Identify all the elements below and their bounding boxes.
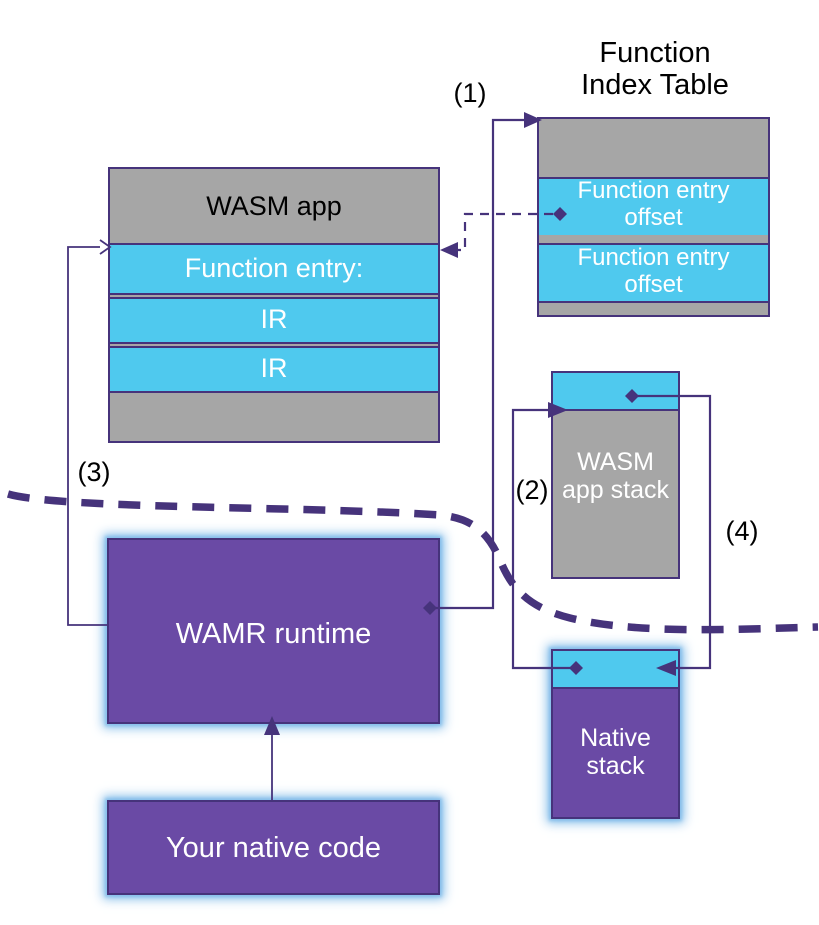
- diamond-wasm-app-stack-top: [625, 389, 639, 403]
- diamond-runtime-right: [423, 601, 437, 615]
- arrowhead-to-function-entry: [440, 242, 458, 258]
- arrowhead-to-wasm-app-stack: [548, 402, 568, 418]
- connector-layer: [0, 0, 819, 925]
- connector-4-wasm-app-stack-to-native-stack: [625, 389, 710, 676]
- connector-native-code-to-runtime: [264, 716, 280, 800]
- diagram-canvas: Function Index Table WASM app Function e…: [0, 0, 819, 925]
- arrowhead-to-runtime: [264, 716, 280, 735]
- diamond-native-stack-left: [569, 661, 583, 675]
- native-boundary-line: [8, 494, 818, 630]
- diamond-function-entry-offset: [553, 207, 567, 221]
- connector-2-native-stack-to-wasm-app-stack: [513, 402, 583, 675]
- arrowhead-to-native-stack: [656, 660, 676, 676]
- connector-offset-to-function-entry: [440, 207, 567, 258]
- arrowhead-to-index-table: [524, 112, 542, 128]
- connector-1-runtime-to-index-table: [423, 112, 542, 615]
- connector-3-runtime-to-wasm-app: [68, 240, 110, 625]
